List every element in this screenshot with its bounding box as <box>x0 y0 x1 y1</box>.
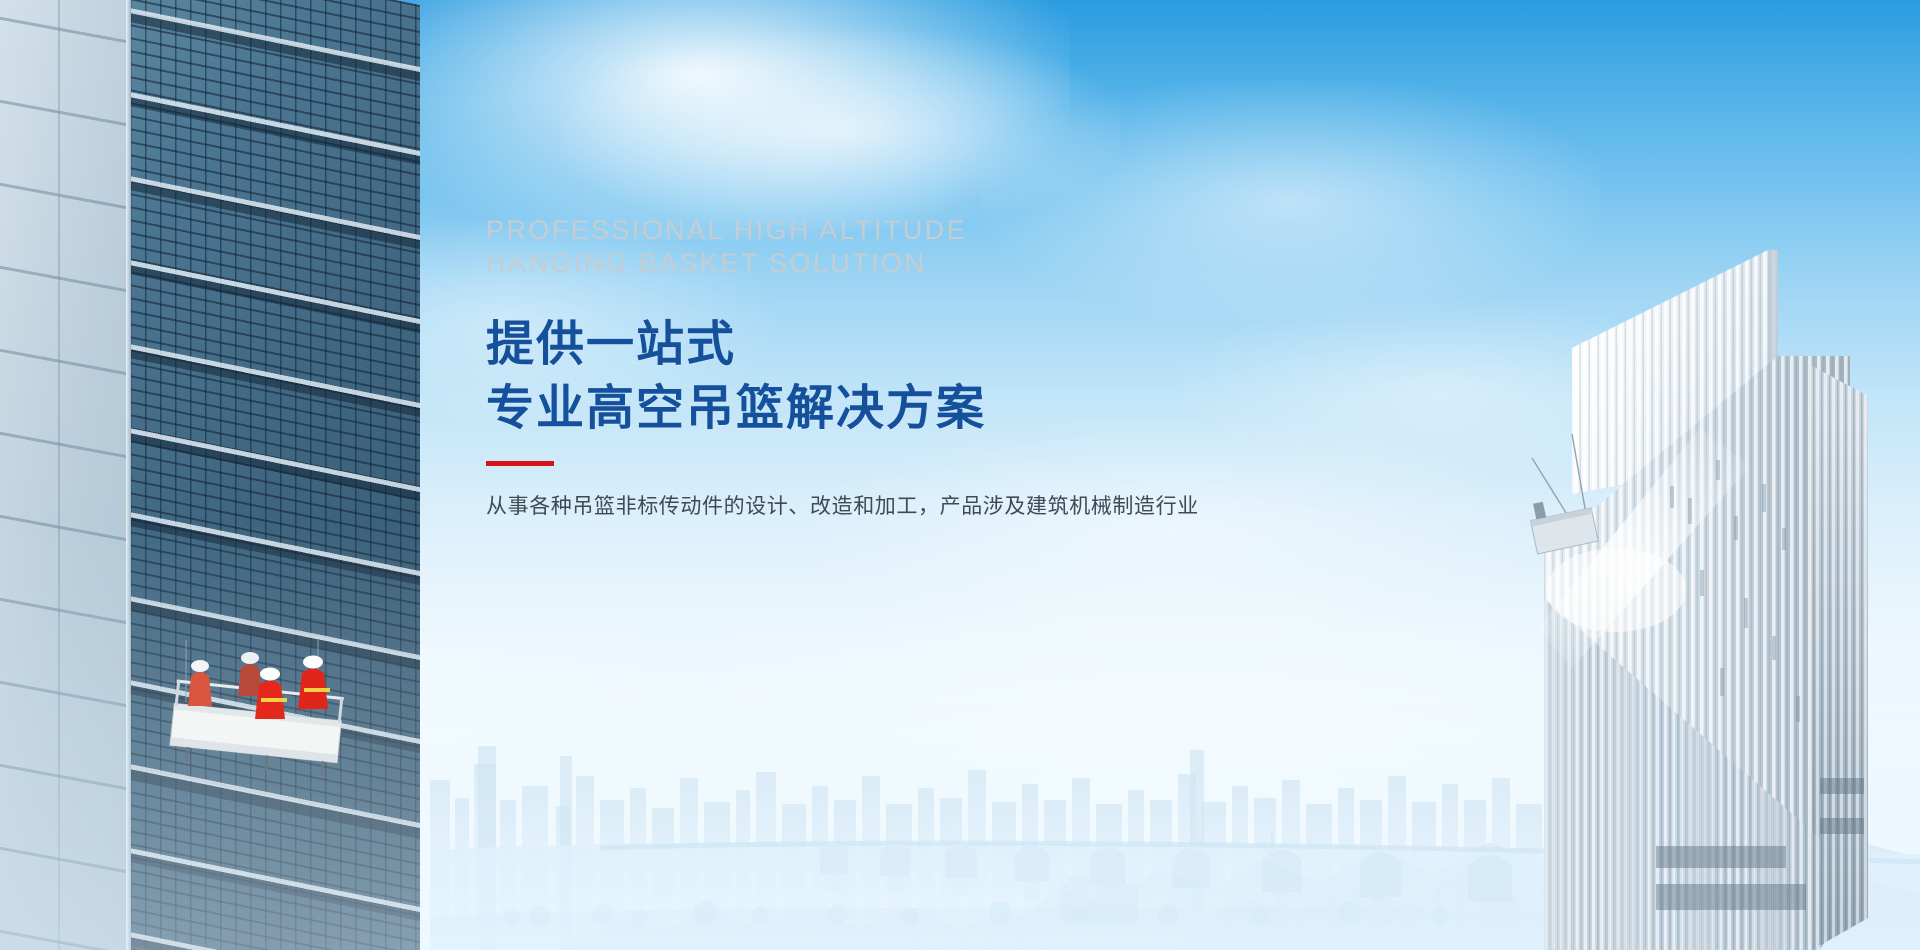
headline-line-1: 提供一站式 <box>486 315 1266 375</box>
eyebrow-line-1: PROFESSIONAL HIGH ALTITUDE <box>486 214 1266 247</box>
tower-spandrel-bands <box>100 0 420 950</box>
worker <box>188 660 212 706</box>
hero-copy: PROFESSIONAL HIGH ALTITUDE HANGING BASKE… <box>486 214 1266 522</box>
eyebrow-line-2: HANGING BASKET SOLUTION <box>486 247 1266 280</box>
worker <box>238 652 262 696</box>
hero-subtitle: 从事各种吊篮非标传动件的设计、改造和加工，产品涉及建筑机械制造行业 <box>486 492 1266 522</box>
right-angular-tower <box>1520 198 1920 950</box>
left-glass-tower <box>0 0 420 950</box>
tower-side-facade <box>0 0 130 950</box>
accent-divider <box>486 461 554 466</box>
worker <box>298 656 330 710</box>
headline-line-2: 专业高空吊篮解决方案 <box>486 379 1266 439</box>
gondola-left <box>150 640 360 790</box>
hero-banner: PROFESSIONAL HIGH ALTITUDE HANGING BASKE… <box>0 0 1920 950</box>
tower-corner-edge <box>126 0 131 950</box>
